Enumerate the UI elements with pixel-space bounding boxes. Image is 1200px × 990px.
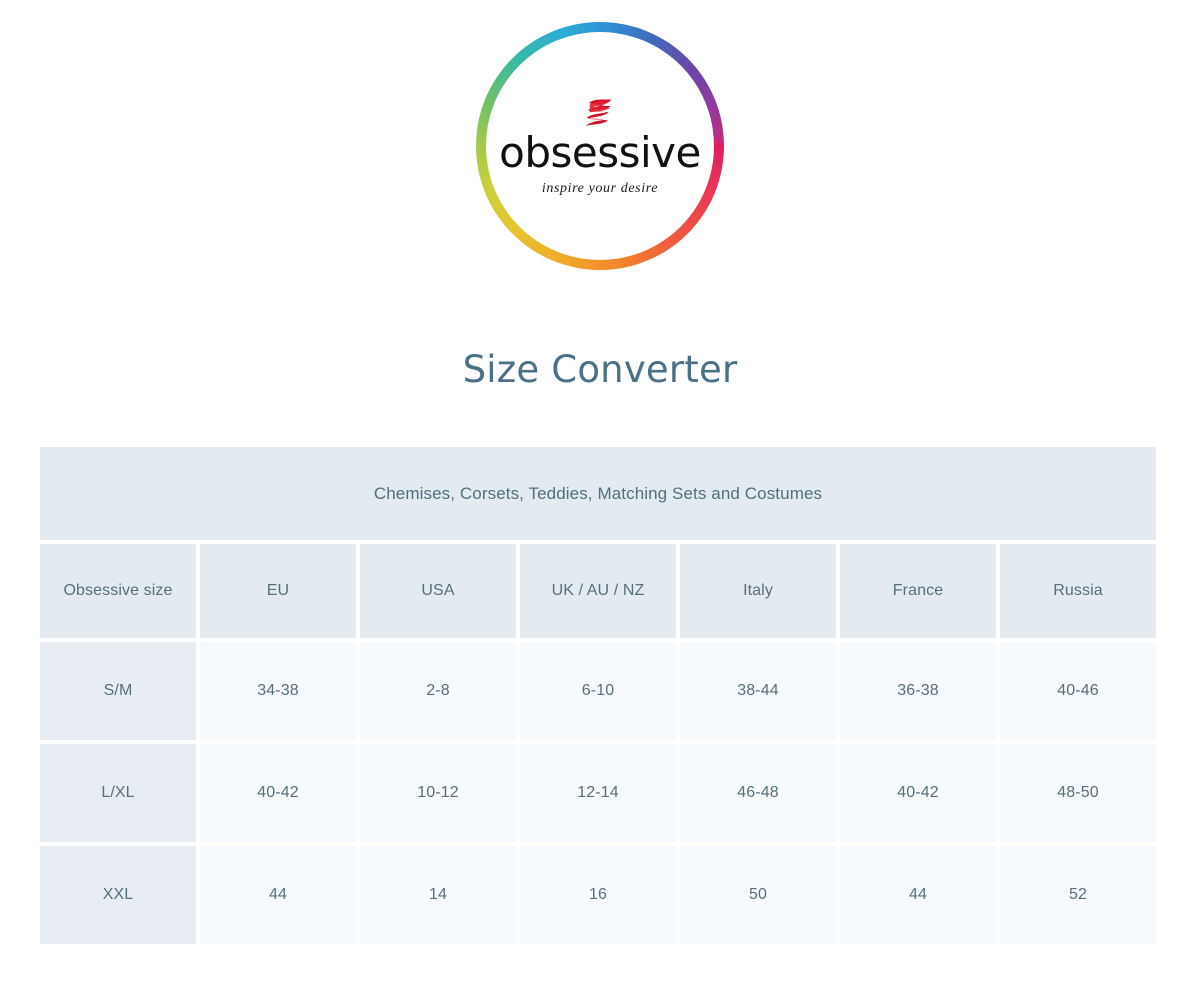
table-cell-size: S/M — [40, 642, 196, 740]
table-cell-eu: 44 — [200, 846, 356, 944]
table-cell-russia: 52 — [1000, 846, 1156, 944]
table-cell-russia: 48-50 — [1000, 744, 1156, 842]
column-header-france: France — [840, 544, 996, 638]
brand-tagline: inspire your desire — [542, 181, 658, 197]
table-row: L/XL 40-42 10-12 12-14 46-48 40-42 48-50 — [40, 744, 1156, 842]
column-header-obsessive-size: Obsessive size — [40, 544, 196, 638]
brand-logo: obsessive inspire your desire — [0, 22, 1200, 270]
table-cell-france: 44 — [840, 846, 996, 944]
column-header-italy: Italy — [680, 544, 836, 638]
column-header-uk-au-nz: UK / AU / NZ — [520, 544, 676, 638]
column-header-usa: USA — [360, 544, 516, 638]
size-converter-page: obsessive inspire your desire Size Conve… — [0, 0, 1200, 990]
table-subtitle-row: Chemises, Corsets, Teddies, Matching Set… — [40, 447, 1156, 540]
table-cell-usa: 2-8 — [360, 642, 516, 740]
logo-inner: obsessive inspire your desire — [495, 96, 705, 197]
table-cell-size: L/XL — [40, 744, 196, 842]
table-row: S/M 34-38 2-8 6-10 38-44 36-38 40-46 — [40, 642, 1156, 740]
table-cell-france: 36-38 — [840, 642, 996, 740]
table-row: XXL 44 14 16 50 44 52 — [40, 846, 1156, 944]
table-header-row: Obsessive size EU USA UK / AU / NZ Italy… — [40, 544, 1156, 638]
table-cell-uk-au-nz: 12-14 — [520, 744, 676, 842]
rainbow-ring-icon: obsessive inspire your desire — [476, 22, 724, 270]
table-cell-france: 40-42 — [840, 744, 996, 842]
size-conversion-table: Chemises, Corsets, Teddies, Matching Set… — [40, 447, 1156, 944]
table-cell-italy: 38-44 — [680, 642, 836, 740]
table-cell-italy: 46-48 — [680, 744, 836, 842]
table-cell-usa: 14 — [360, 846, 516, 944]
table-cell-eu: 34-38 — [200, 642, 356, 740]
column-header-russia: Russia — [1000, 544, 1156, 638]
table-cell-eu: 40-42 — [200, 744, 356, 842]
page-title: Size Converter — [0, 348, 1200, 391]
table-cell-italy: 50 — [680, 846, 836, 944]
table-cell-size: XXL — [40, 846, 196, 944]
column-header-eu: EU — [200, 544, 356, 638]
brand-wordmark: obsessive — [499, 132, 701, 174]
table-cell-uk-au-nz: 16 — [520, 846, 676, 944]
obsessive-ribbon-icon — [583, 96, 617, 130]
table-cell-uk-au-nz: 6-10 — [520, 642, 676, 740]
table-cell-usa: 10-12 — [360, 744, 516, 842]
table-cell-russia: 40-46 — [1000, 642, 1156, 740]
table-subtitle: Chemises, Corsets, Teddies, Matching Set… — [374, 484, 822, 504]
